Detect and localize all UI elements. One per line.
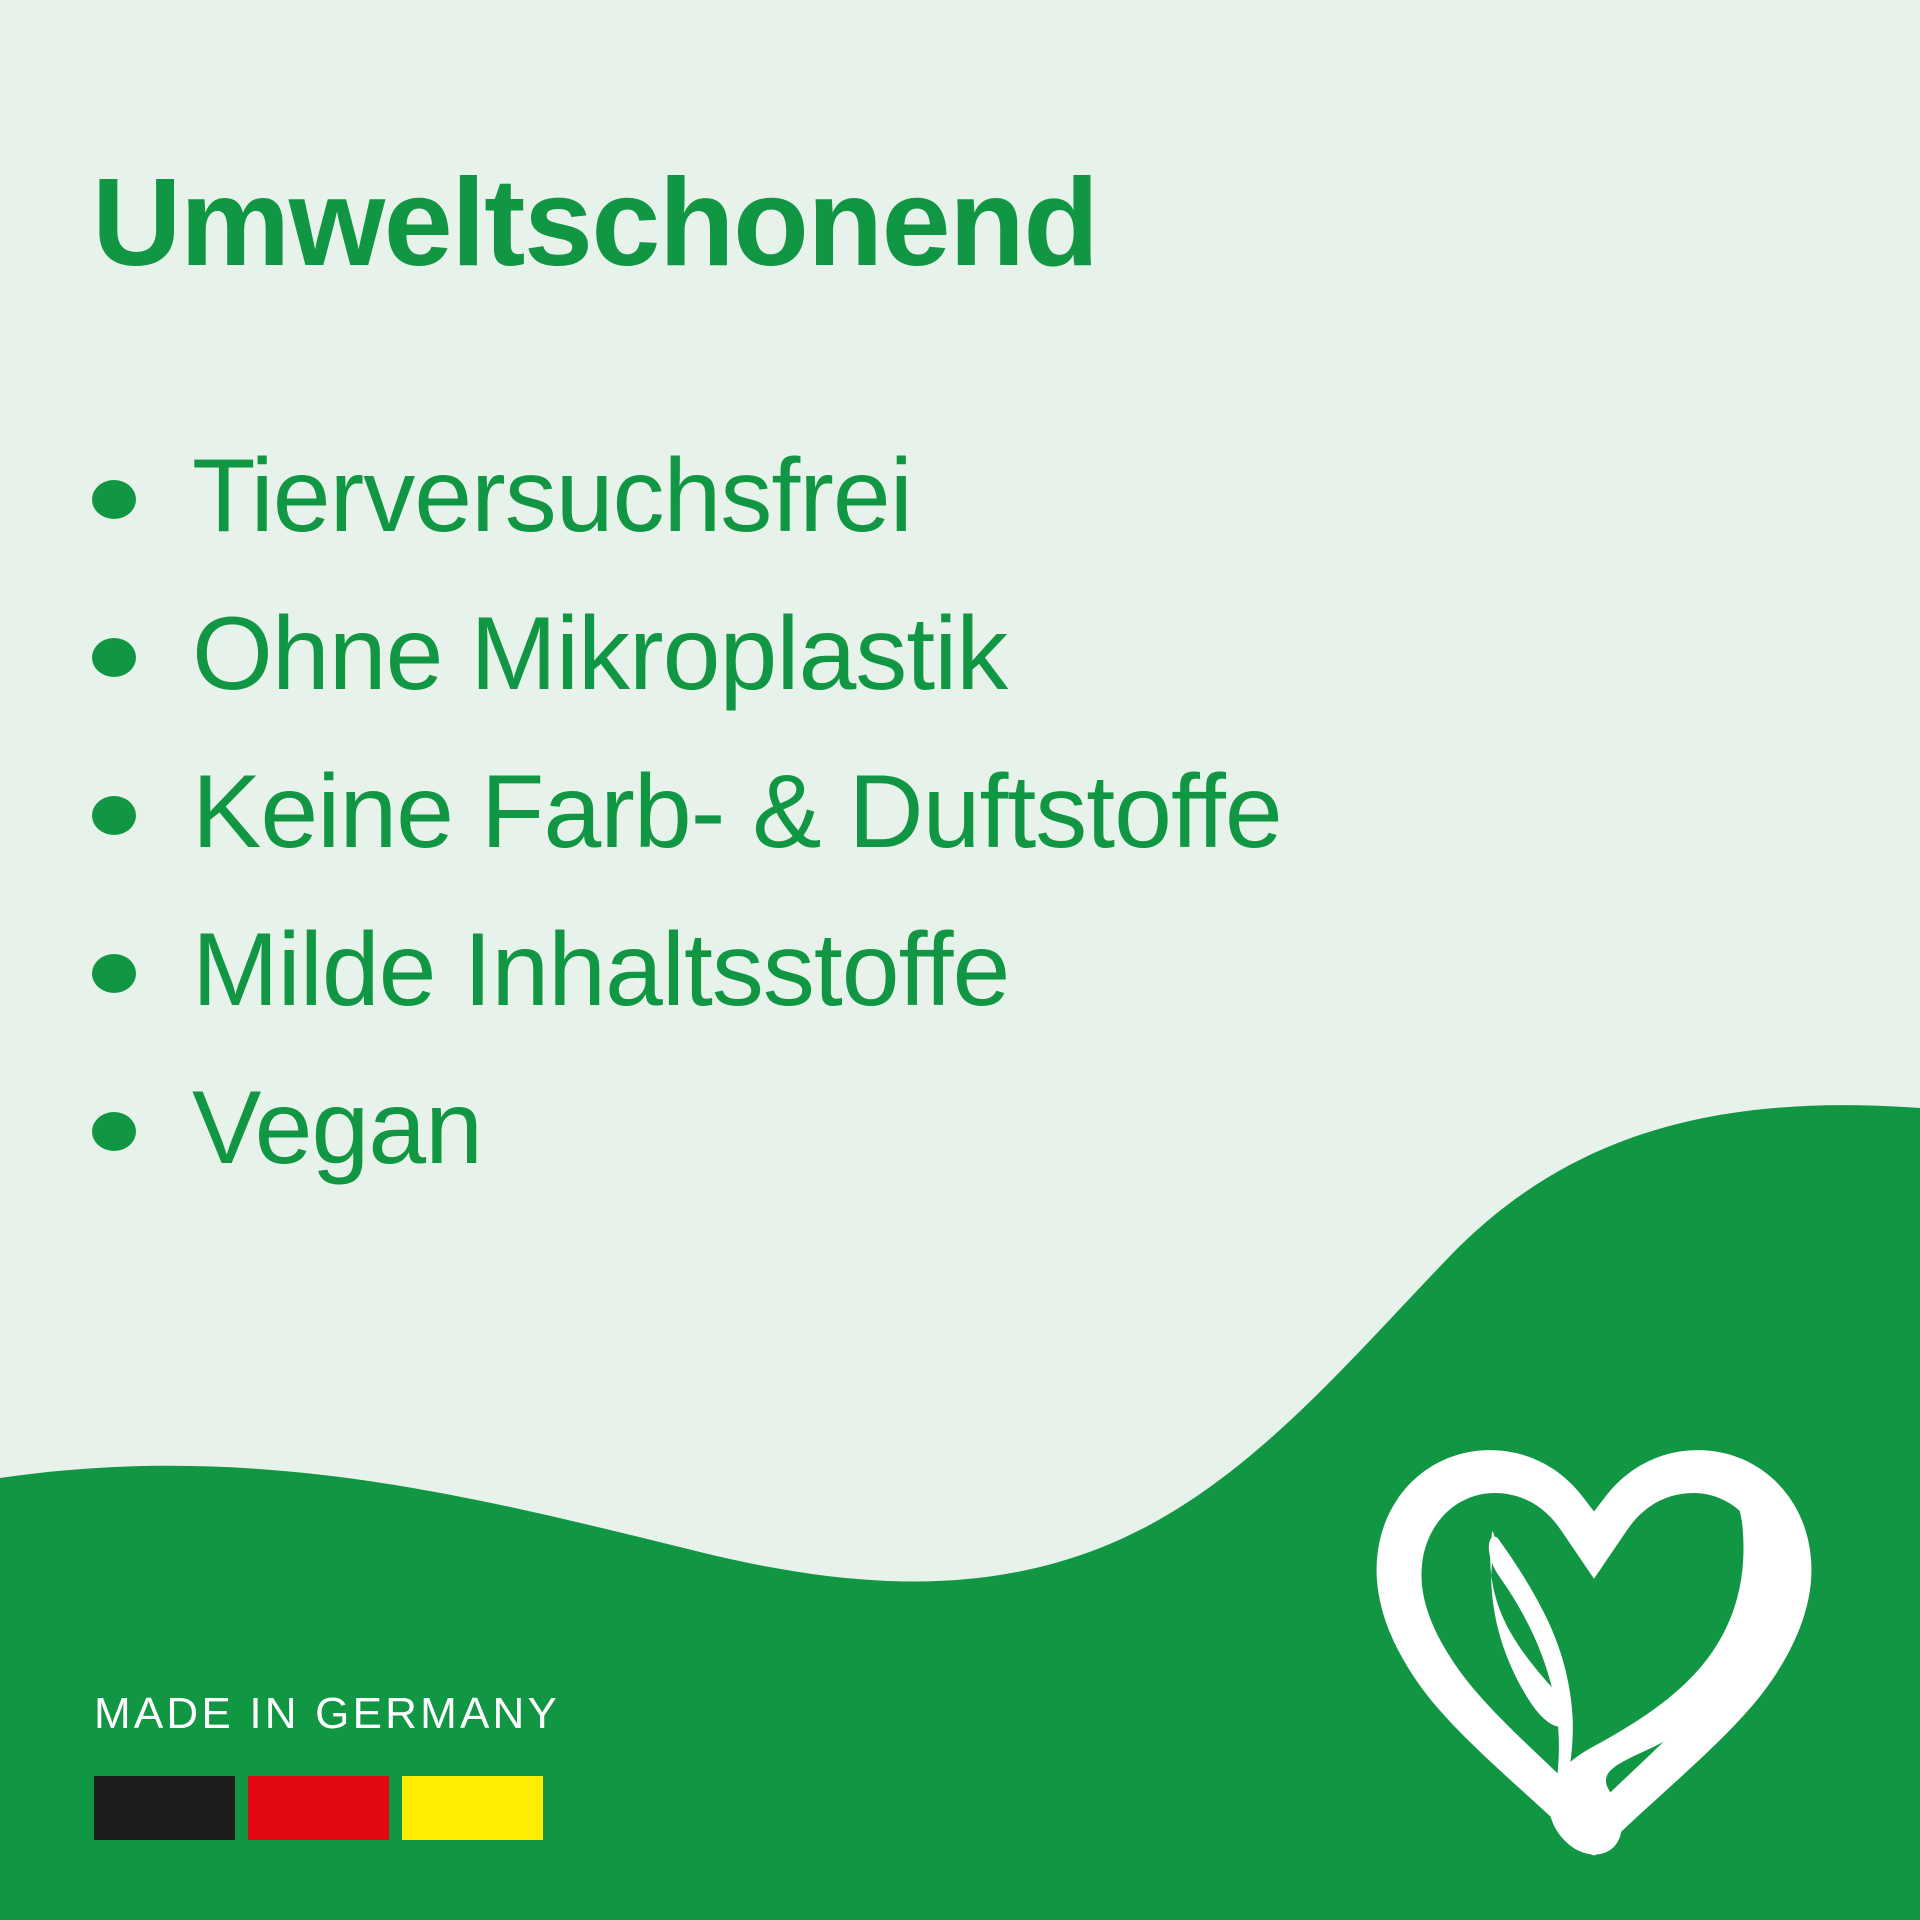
bullet-icon [92, 638, 136, 677]
flag-band-gold [402, 1776, 543, 1840]
feature-list: Tierversuchsfrei Ohne Mikroplastik Keine… [92, 420, 1872, 1210]
made-in-germany-label: MADE IN GERMANY [94, 1692, 614, 1736]
made-in-germany-block: MADE IN GERMANY [94, 1692, 614, 1840]
bullet-icon [92, 954, 136, 993]
list-item: Keine Farb- & Duftstoffe [92, 736, 1872, 894]
bullet-icon [92, 1112, 136, 1151]
list-item: Milde Inhaltsstoffe [92, 894, 1872, 1052]
list-item: Tierversuchsfrei [92, 420, 1872, 578]
heart-leaf-icon [1370, 1428, 1818, 1858]
list-item-label: Vegan [192, 1074, 482, 1183]
list-item-label: Ohne Mikroplastik [192, 600, 1007, 709]
flag-band-black [94, 1776, 235, 1840]
eco-claims-banner: Umweltschonend Tierversuchsfrei Ohne Mik… [0, 0, 1920, 1920]
bullet-icon [92, 796, 136, 835]
german-flag [94, 1776, 614, 1840]
flag-band-red [248, 1776, 389, 1840]
list-item: Vegan [92, 1052, 1872, 1210]
list-item-label: Tierversuchsfrei [192, 442, 912, 551]
page-title: Umweltschonend [92, 161, 1098, 285]
list-item-label: Keine Farb- & Duftstoffe [192, 758, 1282, 867]
list-item-label: Milde Inhaltsstoffe [192, 916, 1009, 1025]
list-item: Ohne Mikroplastik [92, 578, 1872, 736]
bullet-icon [92, 480, 136, 519]
